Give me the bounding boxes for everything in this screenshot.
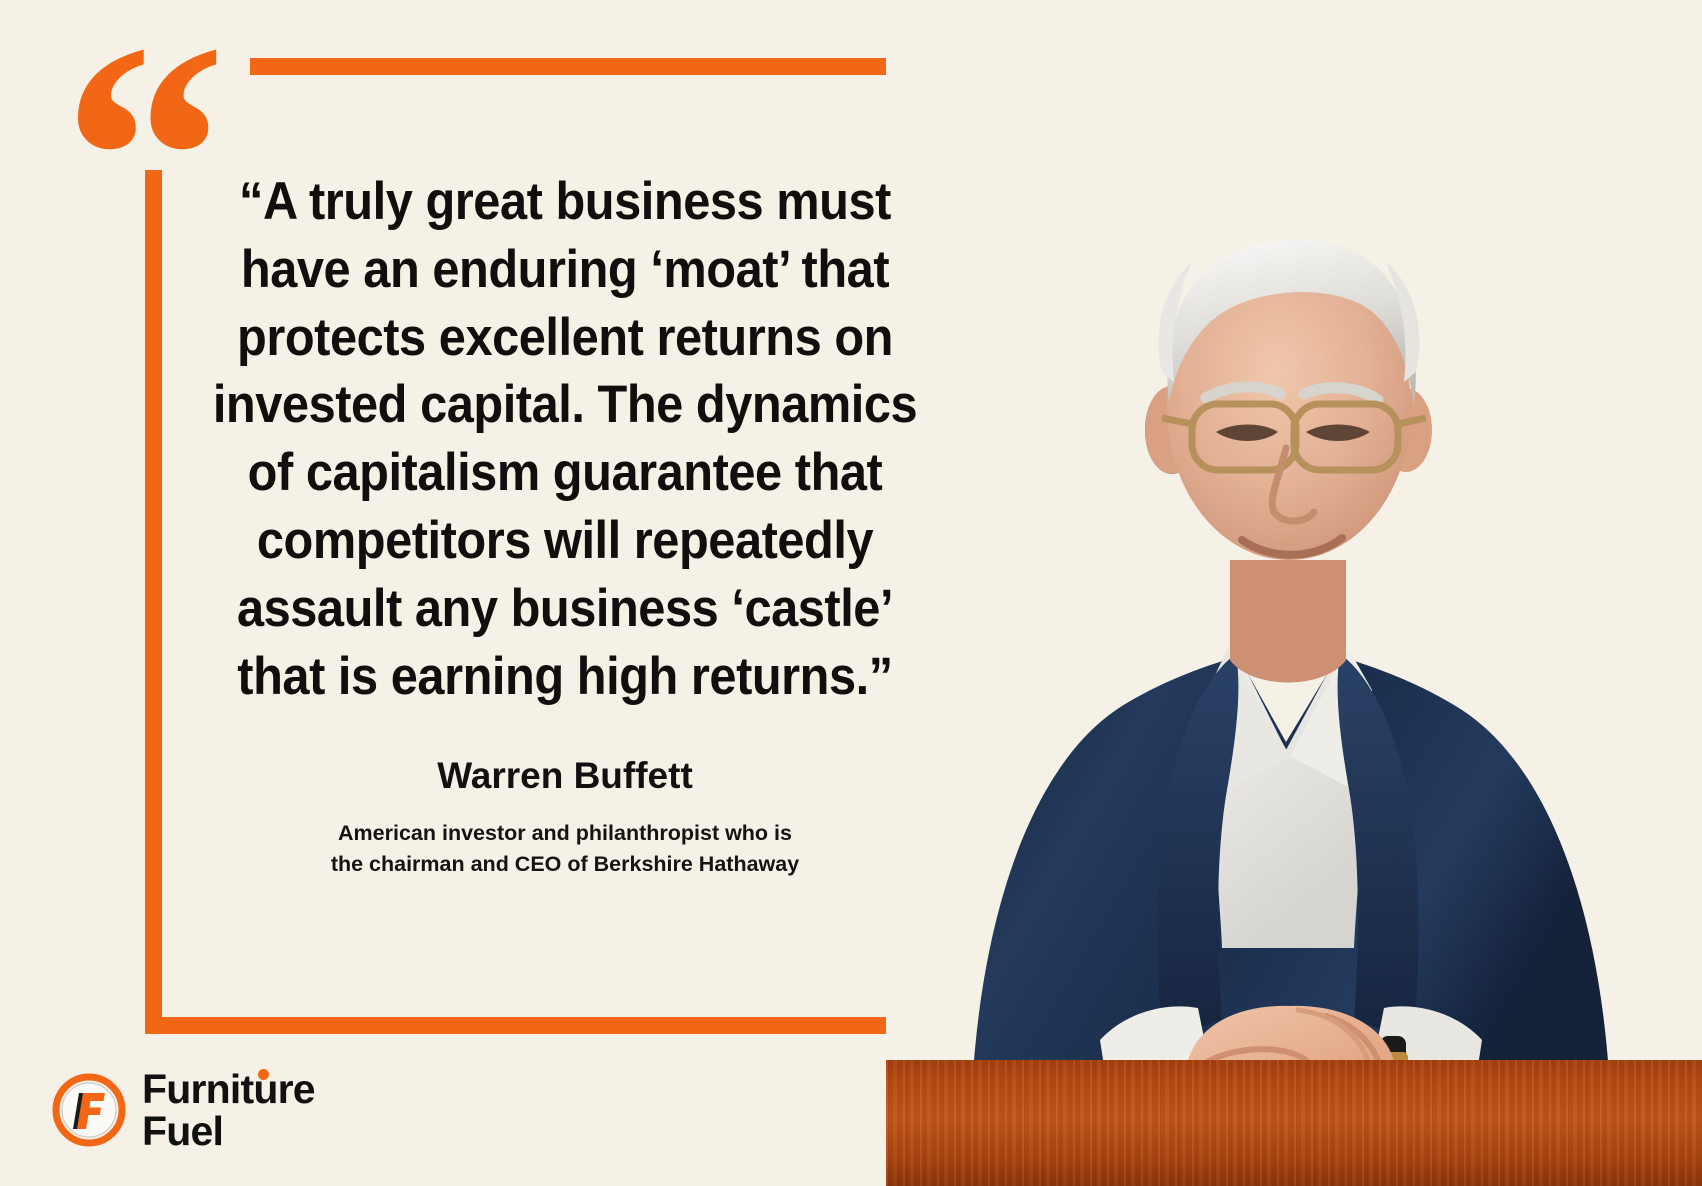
quote-line: have an enduring ‘moat’ that bbox=[183, 236, 947, 304]
quote-text: “A truly great business must have an end… bbox=[183, 168, 947, 711]
author-description: American investor and philanthropist who… bbox=[190, 818, 940, 879]
desk-surface bbox=[886, 1060, 1702, 1186]
logo-mark-icon bbox=[52, 1073, 126, 1147]
quote-line: “A truly great business must bbox=[183, 168, 947, 236]
quote-line: of capitalism guarantee that bbox=[183, 439, 947, 507]
quote-line: assault any business ‘castle’ bbox=[183, 575, 947, 643]
author-photo bbox=[886, 0, 1702, 1186]
poster-canvas: “ ” “A truly great business must have an… bbox=[0, 0, 1702, 1186]
frame-left-bar bbox=[145, 170, 162, 1034]
logo-line-1-text: Furniture bbox=[142, 1066, 315, 1112]
neck bbox=[1230, 560, 1346, 683]
author-description-line: the chairman and CEO of Berkshire Hathaw… bbox=[190, 849, 940, 880]
brand-logo[interactable]: Furniture Fuel bbox=[52, 1070, 315, 1150]
logo-line-2: Fuel bbox=[142, 1112, 315, 1150]
quote-line: invested capital. The dynamics bbox=[183, 371, 947, 439]
quote-line: that is earning high returns.” bbox=[183, 643, 947, 711]
quote-line: competitors will repeatedly bbox=[183, 507, 947, 575]
logo-line-1: Furniture bbox=[142, 1070, 315, 1108]
author-description-line: American investor and philanthropist who… bbox=[190, 818, 940, 849]
logo-i-dot-icon bbox=[258, 1069, 269, 1080]
quote-line: protects excellent returns on bbox=[183, 304, 947, 372]
author-name: Warren Buffett bbox=[150, 755, 980, 797]
frame-bottom-bar bbox=[145, 1017, 968, 1034]
logo-wordmark: Furniture Fuel bbox=[142, 1070, 315, 1150]
portrait-illustration bbox=[886, 0, 1702, 1186]
